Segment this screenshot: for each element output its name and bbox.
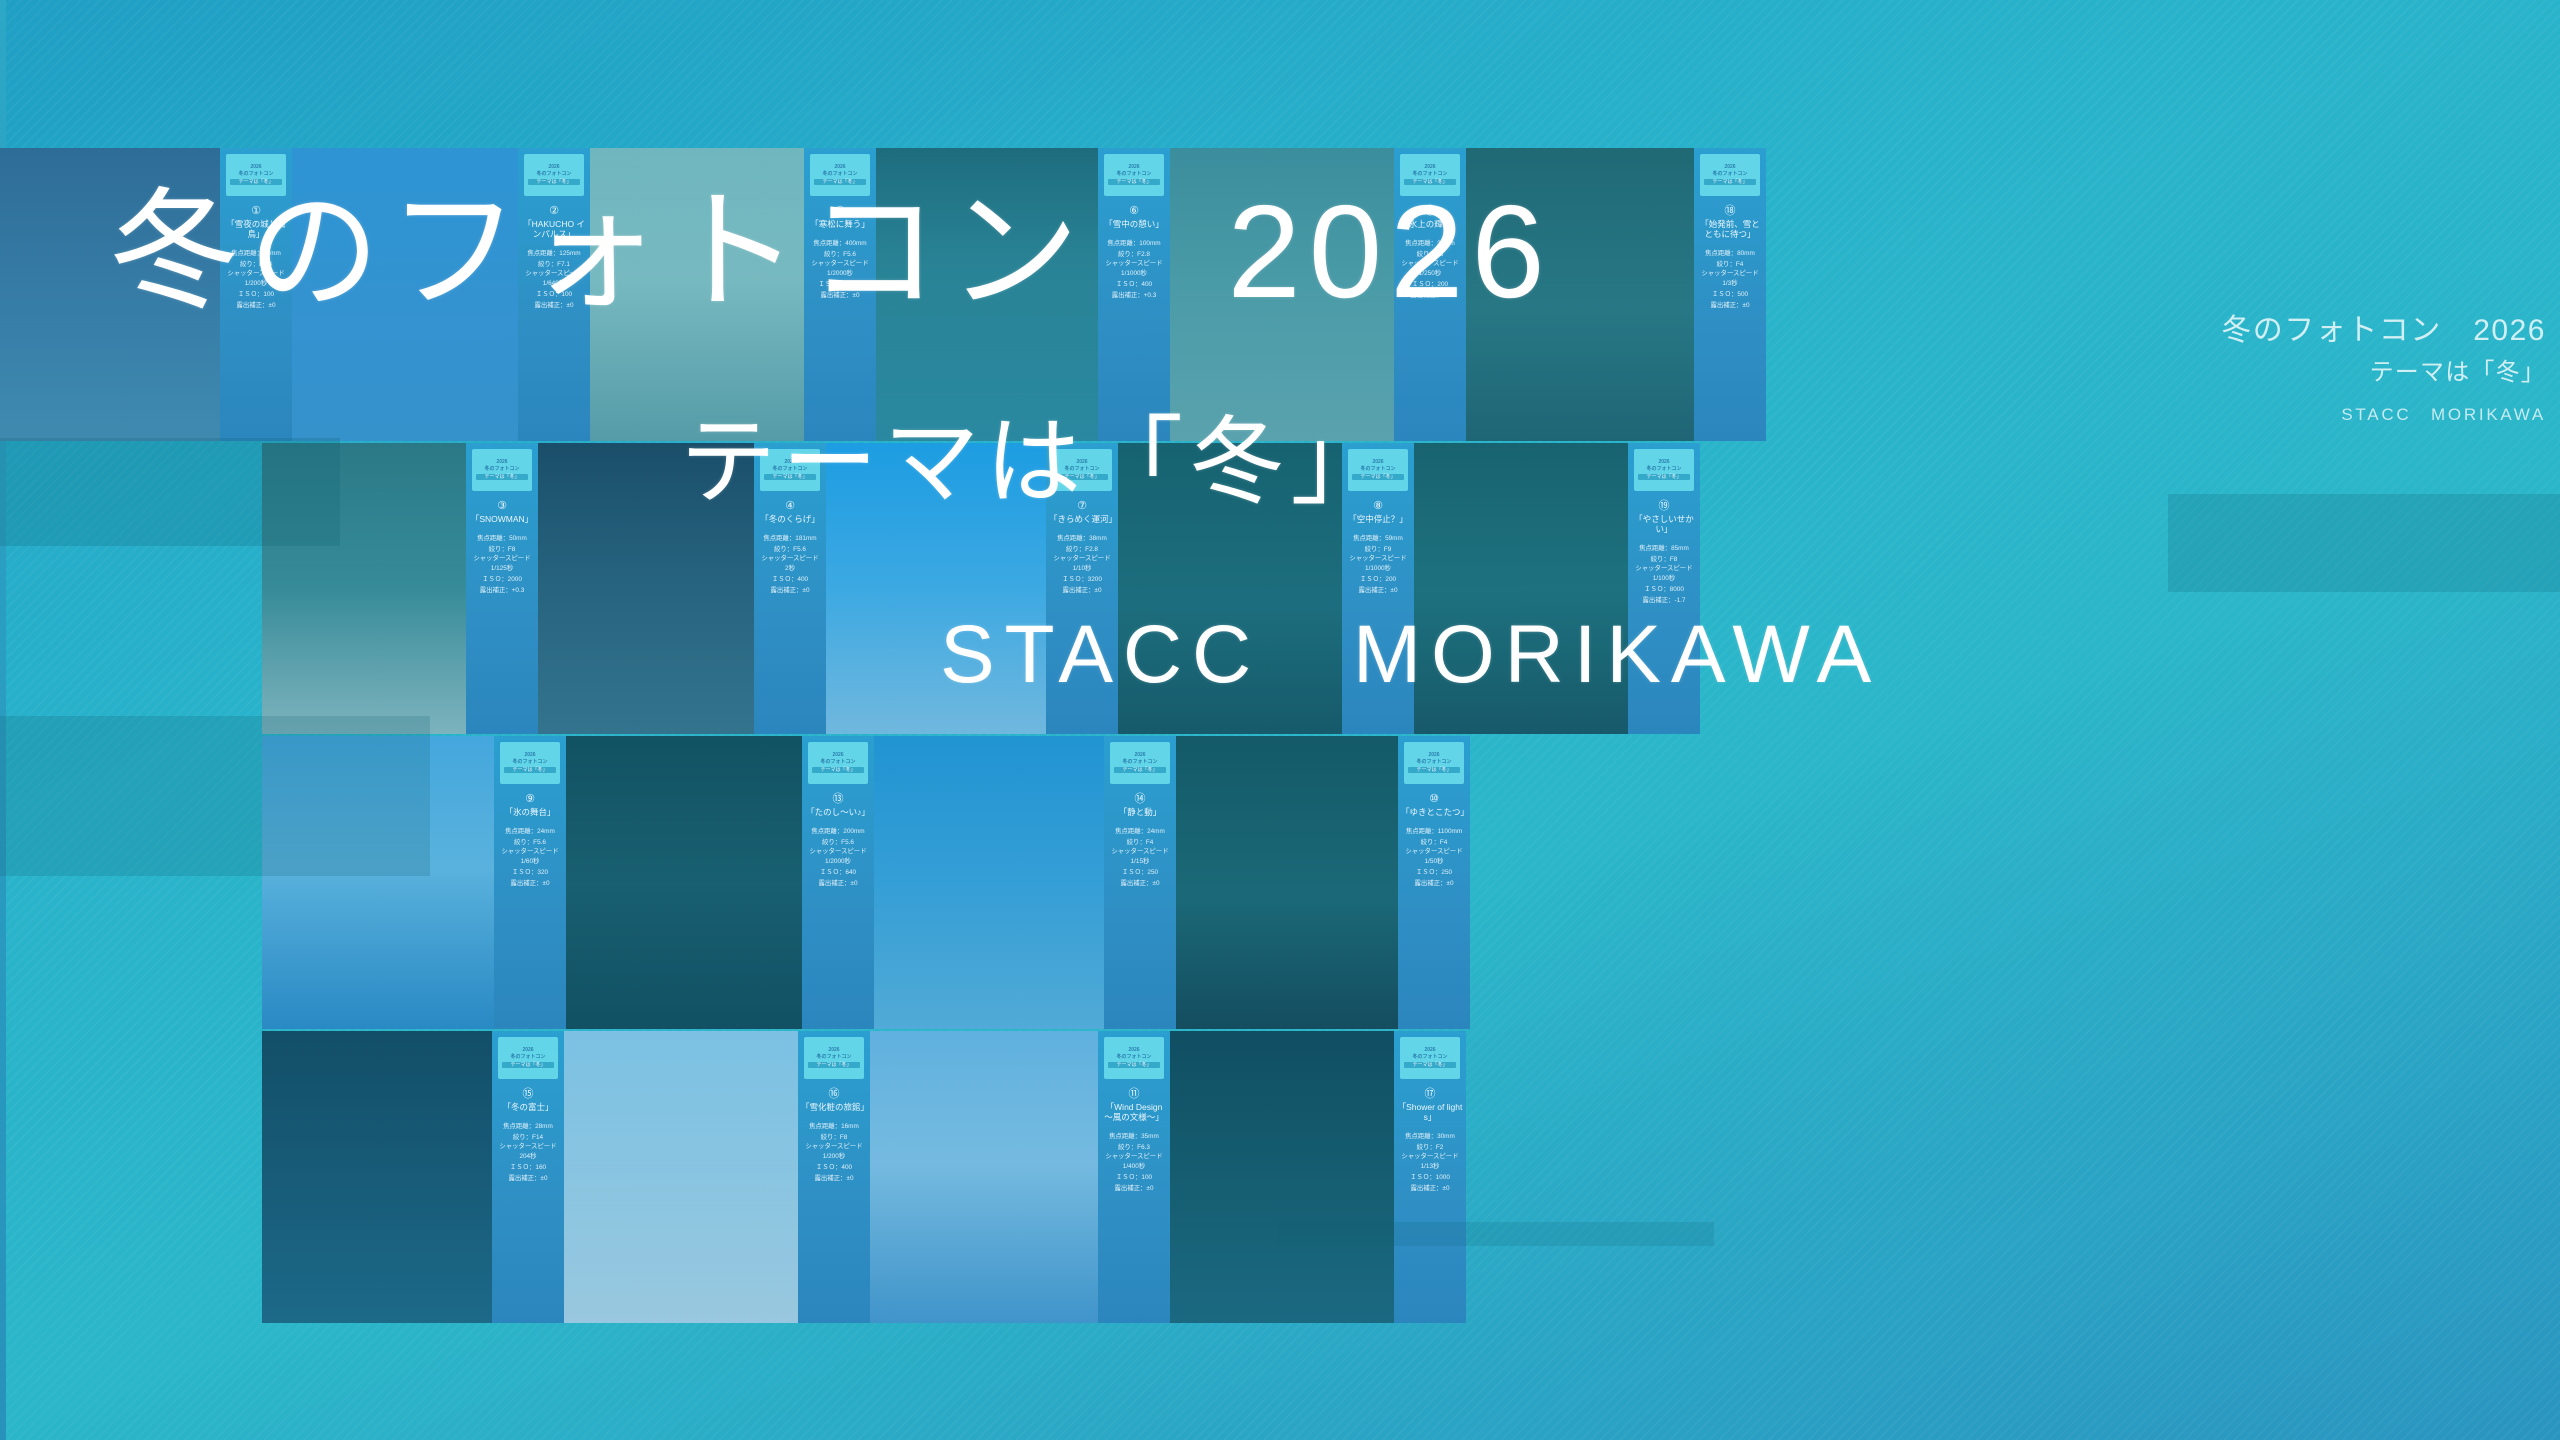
exif-focal: 焦点距離：35mm [1105, 1131, 1162, 1142]
photo-tile: 2026冬のフォトコンテーマは「冬」⑨「氷の舞台」焦点距離：24mm絞り：F5.… [262, 736, 566, 1029]
photo-caption-card: 2026冬のフォトコンテーマは「冬」⑭「静と動」焦点距離：24mm絞り：F4シャ… [1104, 736, 1176, 1029]
exif-exposure: 露出補正：±0 [811, 290, 868, 301]
entry-title: 「雪中の憩い」 [1103, 219, 1165, 229]
badge-theme: テーマは「冬」 [502, 1062, 554, 1068]
exif-shutter: シャッタースピード [1105, 260, 1162, 268]
exif-shutter-value: 1/13秒 [1401, 1161, 1458, 1172]
badge-event: 冬のフォトコン [1634, 467, 1694, 473]
contest-badge: 2026冬のフォトコンテーマは「冬」 [498, 1037, 558, 1079]
entry-number: ⑪ [1129, 1088, 1140, 1100]
badge-year: 2026 [1104, 165, 1164, 171]
exif-shutter: シャッタースピード [1401, 1153, 1458, 1161]
photo-caption-card: 2026冬のフォトコンテーマは「冬」⑥「雪中の憩い」焦点距離：100mm絞り：F… [1098, 148, 1170, 441]
exif-iso: ＩＳＯ：8000 [1635, 584, 1692, 595]
photo-caption-card: 2026冬のフォトコンテーマは「冬」②「HAKUCHO インパルス」焦点距離：1… [518, 148, 590, 441]
entry-exif: 焦点距離：200mm絞り：F5.6シャッタースピード1/2000秒ＩＳＯ：640… [809, 826, 866, 889]
exif-iso: ＩＳＯ：500 [1701, 289, 1758, 300]
mosaic-row-3: 2026冬のフォトコンテーマは「冬」⑨「氷の舞台」焦点距離：24mm絞り：F5.… [262, 736, 1470, 1029]
entry-exif: 焦点距離：28mm絞り：F14シャッタースピード204秒ＩＳＯ：160露出補正：… [499, 1121, 556, 1184]
badge-theme: テーマは「冬」 [814, 179, 866, 185]
contest-badge: 2026冬のフォトコンテーマは「冬」 [1104, 154, 1164, 196]
entry-title: 「Shower of lights」 [1396, 1102, 1464, 1122]
entry-exif: 焦点距離：16mm絞り：F8シャッタースピード1/200秒ＩＳＯ：400露出補正… [805, 1121, 862, 1184]
photo-tint [566, 736, 802, 1029]
mosaic-row-4: 2026冬のフォトコンテーマは「冬」⑮「冬の富士」焦点距離：28mm絞り：F14… [262, 1031, 1466, 1323]
badge-event: 冬のフォトコン [500, 760, 560, 766]
badge-year: 2026 [1634, 460, 1694, 466]
entry-title: 「氷上の輝き」 [1399, 219, 1461, 229]
entry-exif: 焦点距離：80mm絞り：F4シャッタースピード1/3秒ＩＳＯ：500露出補正：±… [1701, 248, 1758, 311]
exif-shutter: シャッタースピード [1111, 848, 1168, 856]
badge-year: 2026 [1052, 460, 1112, 466]
photo-caption-card: 2026冬のフォトコンテーマは「冬」③「SNOWMAN」焦点距離：50mm絞り：… [466, 443, 538, 734]
entry-number: ⑯ [829, 1088, 840, 1100]
contest-badge: 2026冬のフォトコンテーマは「冬」 [1634, 449, 1694, 491]
mosaic-row-2: 2026冬のフォトコンテーマは「冬」③「SNOWMAN」焦点距離：50mm絞り：… [262, 443, 1700, 734]
exif-exposure: 露出補正：±0 [1053, 585, 1110, 596]
entry-title: 「寒松に舞う」 [809, 219, 871, 229]
entry-title: 「雪化粧の旅館」 [800, 1102, 868, 1112]
badge-theme: テーマは「冬」 [528, 179, 580, 185]
exif-focal: 焦点距離：28mm [499, 1121, 556, 1132]
photo-tint [262, 443, 466, 734]
badge-year: 2026 [1400, 165, 1460, 171]
contest-badge: 2026冬のフォトコンテーマは「冬」 [804, 1037, 864, 1079]
photo-tile: 2026冬のフォトコンテーマは「冬」⑫「氷上の輝き」焦点距離：35mm絞り：F8… [1170, 148, 1466, 441]
entry-number: ⑭ [1135, 793, 1146, 805]
exif-aperture: 絞り：F4 [1111, 837, 1168, 848]
badge-year: 2026 [808, 753, 868, 759]
photo-fireworks-lake [262, 1031, 492, 1323]
exif-shutter-value: 1/1000秒 [1105, 268, 1162, 279]
badge-theme: テーマは「冬」 [764, 474, 816, 480]
entry-number: ⑥ [1129, 205, 1139, 217]
photo-tint [876, 148, 1098, 441]
entry-exif: 焦点距離：125mm絞り：F7.1シャッタースピード1/640秒ＩＳＯ：100露… [525, 248, 582, 311]
contest-badge: 2026冬のフォトコンテーマは「冬」 [1700, 154, 1760, 196]
entry-exif: 焦点距離：38mm絞り：F2.8シャッタースピード1/10秒ＩＳＯ：3200露出… [1053, 533, 1110, 596]
photo-caption-card: 2026冬のフォトコンテーマは「冬」⑪「Wind Design ～風の文様～」焦… [1098, 1031, 1170, 1323]
entry-number: ⑦ [1077, 500, 1087, 512]
photo-kamakura-couple [1414, 443, 1628, 734]
entry-exif: 焦点距離：400mm絞り：F5.6シャッタースピード1/2000秒ＩＳＯ：200… [811, 238, 868, 301]
exif-shutter: シャッタースピード [811, 260, 868, 268]
exif-iso: ＩＳＯ：200 [1401, 279, 1458, 290]
photo-canal-night-town [538, 443, 754, 734]
exif-exposure: 露出補正：±0 [1111, 878, 1168, 889]
badge-theme: テーマは「冬」 [812, 767, 864, 773]
exif-shutter: シャッタースピード [1053, 555, 1110, 563]
entry-number: ⑧ [1373, 500, 1383, 512]
exif-shutter-value: 1/200秒 [805, 1151, 862, 1162]
photo-tile: 2026冬のフォトコンテーマは「冬」⑭「静と動」焦点距離：24mm絞り：F4シャ… [874, 736, 1176, 1029]
photo-tint [538, 443, 754, 734]
photo-city-illumination [1170, 1031, 1394, 1323]
exif-exposure: 露出補正：±0 [499, 1173, 556, 1184]
photo-tint [292, 148, 518, 441]
contest-badge: 2026冬のフォトコンテーマは「冬」 [1348, 449, 1408, 491]
exif-shutter: シャッタースピード [227, 270, 284, 278]
exif-exposure: 露出補正：±0 [805, 1173, 862, 1184]
exif-focal: 焦点距離：24mm [1111, 826, 1168, 837]
photo-icicle-formation [262, 443, 466, 734]
photo-tile: 2026冬のフォトコンテーマは「冬」⑤「寒松に舞う」焦点距離：400mm絞り：F… [590, 148, 876, 441]
entry-title: 「始発前、雪とともに待つ」 [1696, 219, 1764, 239]
badge-year: 2026 [1700, 165, 1760, 171]
exif-aperture: 絞り：F4 [1405, 837, 1462, 848]
entry-title: 「きらめく運河」 [1048, 514, 1116, 524]
entry-title: 「空中停止？」 [1347, 514, 1409, 524]
exif-aperture: 絞り：F8 [805, 1132, 862, 1143]
entry-exif: 焦点距離：20mm絞り：F2.8シャッタースピード1/200秒ＩＳＯ：100露出… [227, 248, 284, 311]
exif-focal: 焦点距離：38mm [1053, 533, 1110, 544]
badge-theme: テーマは「冬」 [476, 474, 528, 480]
badge-event: 冬のフォトコン [1404, 760, 1464, 766]
exif-focal: 焦点距離：59mm [1349, 533, 1406, 544]
exif-iso: ＩＳＯ：200 [1349, 574, 1406, 585]
badge-theme: テーマは「冬」 [1352, 474, 1404, 480]
exif-iso: ＩＳＯ：250 [1111, 867, 1168, 878]
exif-aperture: 絞り：F5.6 [761, 544, 818, 555]
exif-shutter-value: 1/2000秒 [811, 268, 868, 279]
exif-exposure: 露出補正：±0 [1105, 1183, 1162, 1194]
photo-tint [1466, 148, 1694, 441]
exif-focal: 焦点距離：181mm [761, 533, 818, 544]
exif-shutter-value: 1/3秒 [1701, 278, 1758, 289]
contest-badge: 2026冬のフォトコンテーマは「冬」 [808, 742, 868, 784]
exif-aperture: 絞り：F5.6 [811, 249, 868, 260]
badge-theme: テーマは「冬」 [1114, 767, 1166, 773]
entry-number: ① [251, 205, 261, 217]
badge-year: 2026 [1104, 1048, 1164, 1054]
badge-theme: テーマは「冬」 [1404, 1062, 1456, 1068]
badge-theme: テーマは「冬」 [1108, 179, 1160, 185]
entry-number: ⑤ [835, 205, 845, 217]
badge-theme: テーマは「冬」 [1108, 1062, 1160, 1068]
entry-title: 「やさしいせかい」 [1630, 514, 1698, 534]
exif-exposure: 露出補正：±0 [501, 878, 558, 889]
entry-exif: 焦点距離：35mm絞り：F6.3シャッタースピード1/400秒ＩＳＯ：100露出… [1105, 1131, 1162, 1194]
exif-shutter-value: 1/2000秒 [809, 856, 866, 867]
photo-tile: 2026冬のフォトコンテーマは「冬」⑪「Wind Design ～風の文様～」焦… [870, 1031, 1170, 1323]
exif-exposure: 露出補正：±0 [1701, 300, 1758, 311]
exif-exposure: 露出補正：±0 [1349, 585, 1406, 596]
exif-shutter: シャッタースピード [805, 1143, 862, 1151]
photo-caption-card: 2026冬のフォトコンテーマは「冬」④「冬のくらげ」焦点距離：181mm絞り：F… [754, 443, 826, 734]
photo-snowy-ryokan [564, 1031, 798, 1323]
exif-shutter-value: 1/200秒 [227, 278, 284, 289]
contest-badge: 2026冬のフォトコンテーマは「冬」 [226, 154, 286, 196]
entry-exif: 焦点距離：100mm絞り：F2.8シャッタースピード1/1000秒ＩＳＯ：400… [1105, 238, 1162, 301]
photo-snow-castle [0, 148, 220, 441]
photo-tint [1176, 736, 1398, 1029]
exif-iso: ＩＳＯ：100 [525, 289, 582, 300]
exif-shutter-value: 1/10秒 [1053, 563, 1110, 574]
entry-exif: 焦点距離：85mm絞り：F8シャッタースピード1/100秒ＩＳＯ：8000露出補… [1635, 543, 1692, 606]
exif-shutter: シャッタースピード [1401, 260, 1458, 268]
photo-tile: 2026冬のフォトコンテーマは「冬」⑰「Shower of lights」焦点距… [1170, 1031, 1466, 1323]
photo-caption-card: 2026冬のフォトコンテーマは「冬」⑤「寒松に舞う」焦点距離：400mm絞り：F… [804, 148, 876, 441]
badge-event: 冬のフォトコン [1348, 467, 1408, 473]
exif-shutter-value: 1/100秒 [1635, 573, 1692, 584]
exif-shutter: シャッタースピード [1105, 1153, 1162, 1161]
exif-iso: ＩＳＯ：3200 [1053, 574, 1110, 585]
exif-focal: 焦点距離：16mm [805, 1121, 862, 1132]
badge-year: 2026 [760, 460, 820, 466]
exif-focal: 焦点距離：30mm [1401, 1131, 1458, 1142]
photo-illumination-tree [566, 736, 802, 1029]
exif-shutter: シャッタースピード [809, 848, 866, 856]
exif-exposure: 露出補正：±0 [1401, 290, 1458, 301]
exif-shutter: シャッタースピード [525, 270, 582, 278]
exif-focal: 焦点距離：80mm [1701, 248, 1758, 259]
entry-title: 「氷の舞台」 [503, 807, 556, 817]
photo-winter-lake-birds [876, 148, 1098, 441]
exif-shutter: シャッタースピード [1635, 565, 1692, 573]
contest-badge: 2026冬のフォトコンテーマは「冬」 [810, 154, 870, 196]
exif-shutter-value: 1/1000秒 [1349, 563, 1406, 574]
badge-event: 冬のフォトコン [498, 1055, 558, 1061]
exif-shutter: シャッタースピード [1701, 270, 1758, 278]
exif-shutter-value: 2秒 [761, 563, 818, 574]
exif-shutter-value: 204秒 [499, 1151, 556, 1162]
photo-tile: 2026冬のフォトコンテーマは「冬」①「雪夜の城と白鳥」焦点距離：20mm絞り：… [0, 148, 292, 441]
exif-iso: ＩＳＯ：2000 [473, 574, 530, 585]
contest-badge: 2026冬のフォトコンテーマは「冬」 [500, 742, 560, 784]
photo-caption-card: 2026冬のフォトコンテーマは「冬」⑰「Shower of lights」焦点距… [1394, 1031, 1466, 1323]
badge-year: 2026 [524, 165, 584, 171]
exif-aperture: 絞り：F2.8 [227, 259, 284, 270]
badge-year: 2026 [500, 753, 560, 759]
badge-event: 冬のフォトコン [810, 172, 870, 178]
photo-tile: 2026冬のフォトコンテーマは「冬」⑱「始発前、雪とともに待つ」焦点距離：80m… [1466, 148, 1766, 441]
exif-aperture: 絞り：F8 [1635, 554, 1692, 565]
badge-event: 冬のフォトコン [1104, 1055, 1164, 1061]
exif-focal: 焦点距離：400mm [811, 238, 868, 249]
photo-caption-card: 2026冬のフォトコンテーマは「冬」⑬「たのし～い♪」焦点距離：200mm絞り：… [802, 736, 874, 1029]
photo-pine-branch [590, 148, 804, 441]
entry-title: 「HAKUCHO インパルス」 [520, 219, 588, 239]
entry-exif: 焦点距離：59mm絞り：F9シャッタースピード1/1000秒ＩＳＯ：200露出補… [1349, 533, 1406, 596]
entry-title: 「ゆきとこたつ」 [1400, 807, 1468, 817]
exif-iso: ＩＳＯ：100 [227, 289, 284, 300]
photo-night-railyard [1466, 148, 1694, 441]
exif-iso: ＩＳＯ：640 [809, 867, 866, 878]
photo-tile: 2026冬のフォトコンテーマは「冬」⑧「空中停止？」焦点距離：59mm絞り：F9… [1118, 443, 1414, 734]
badge-theme: テーマは「冬」 [1704, 179, 1756, 185]
exif-iso: ＩＳＯ：20000 [811, 279, 868, 290]
exif-aperture: 絞り：F4 [1701, 259, 1758, 270]
badge-event: 冬のフォトコン [524, 172, 584, 178]
badge-event: 冬のフォトコン [1400, 1055, 1460, 1061]
badge-event: 冬のフォトコン [804, 1055, 864, 1061]
badge-year: 2026 [498, 1048, 558, 1054]
entry-number: ⑰ [1425, 1088, 1436, 1100]
contest-badge: 2026冬のフォトコンテーマは「冬」 [472, 449, 532, 491]
entry-exif: 焦点距離：1100mm絞り：F4シャッタースピード1/50秒ＩＳＯ：250露出補… [1405, 826, 1462, 889]
entry-number: ⑫ [1425, 205, 1436, 217]
exif-aperture: 絞り：F2.8 [1105, 249, 1162, 260]
entry-exif: 焦点距離：50mm絞り：F8シャッタースピード1/125秒ＩＳＯ：2000露出補… [473, 533, 530, 596]
exif-focal: 焦点距離：100mm [1105, 238, 1162, 249]
exif-iso: ＩＳＯ：400 [1105, 279, 1162, 290]
entry-title: 「たのし～い♪」 [805, 807, 871, 817]
exif-shutter-value: 1/400秒 [1105, 1161, 1162, 1172]
photo-tint [870, 1031, 1098, 1323]
exif-exposure: 露出補正：±0 [525, 300, 582, 311]
badge-year: 2026 [804, 1048, 864, 1054]
exif-aperture: 絞り：F8 [1401, 249, 1458, 260]
exif-focal: 焦点距離：20mm [227, 248, 284, 259]
photo-tint [1414, 443, 1628, 734]
photo-caption-card: 2026冬のフォトコンテーマは「冬」⑱「始発前、雪とともに待つ」焦点距離：80m… [1694, 148, 1766, 441]
exif-aperture: 絞り：F9 [1349, 544, 1406, 555]
badge-theme: テーマは「冬」 [1408, 767, 1460, 773]
photo-mosaic: 2026冬のフォトコンテーマは「冬」①「雪夜の城と白鳥」焦点距離：20mm絞り：… [0, 148, 2560, 1238]
photo-tile: 2026冬のフォトコンテーマは「冬」③「SNOWMAN」焦点距離：50mm絞り：… [262, 443, 538, 734]
exif-aperture: 絞り：F5.6 [501, 837, 558, 848]
badge-year: 2026 [1400, 1048, 1460, 1054]
mosaic-row-1: 2026冬のフォトコンテーマは「冬」①「雪夜の城と白鳥」焦点距離：20mm絞り：… [0, 148, 1766, 441]
exif-shutter-value: 1/60秒 [501, 856, 558, 867]
photo-caption-card: 2026冬のフォトコンテーマは「冬」⑨「氷の舞台」焦点距離：24mm絞り：F5.… [494, 736, 566, 1029]
exif-focal: 焦点距離：24mm [501, 826, 558, 837]
exif-focal: 焦点距離：85mm [1635, 543, 1692, 554]
photo-snow-dunes [870, 1031, 1098, 1323]
photo-tint [874, 736, 1104, 1029]
entry-exif: 焦点距離：181mm絞り：F5.6シャッタースピード2秒ＩＳＯ：400露出補正：… [761, 533, 818, 596]
photo-tint [1118, 443, 1342, 734]
contest-badge: 2026冬のフォトコンテーマは「冬」 [1052, 449, 1112, 491]
badge-theme: テーマは「冬」 [1056, 474, 1108, 480]
exif-focal: 焦点距離：200mm [809, 826, 866, 837]
exif-shutter-value: 1/50秒 [1405, 856, 1462, 867]
photo-tile: 2026冬のフォトコンテーマは「冬」⑬「たのし～い♪」焦点距離：200mm絞り：… [566, 736, 874, 1029]
exif-focal: 焦点距離：125mm [525, 248, 582, 259]
photo-tile: 2026冬のフォトコンテーマは「冬」④「冬のくらげ」焦点距離：181mm絞り：F… [538, 443, 826, 734]
exif-shutter: シャッタースピード [1405, 848, 1462, 856]
badge-event: 冬のフォトコン [226, 172, 286, 178]
badge-theme: テーマは「冬」 [808, 1062, 860, 1068]
entry-exif: 焦点距離：30mm絞り：F2シャッタースピード1/13秒ＩＳＯ：1000露出補正… [1401, 1131, 1458, 1194]
exif-exposure: 露出補正：+0.3 [473, 585, 530, 596]
photo-tile: 2026冬のフォトコンテーマは「冬」⑲「やさしいせかい」焦点距離：85mm絞り：… [1414, 443, 1700, 734]
photo-caption-card: 2026冬のフォトコンテーマは「冬」⑯「雪化粧の旅館」焦点距離：16mm絞り：F… [798, 1031, 870, 1323]
exif-iso: ＩＳＯ：320 [501, 867, 558, 878]
entry-title: 「SNOWMAN」 [470, 514, 534, 524]
exif-iso: ＩＳＯ：400 [805, 1162, 862, 1173]
photo-tile: 2026冬のフォトコンテーマは「冬」⑯「雪化粧の旅館」焦点距離：16mm絞り：F… [564, 1031, 870, 1323]
contest-badge: 2026冬のフォトコンテーマは「冬」 [1400, 154, 1460, 196]
photo-tile: 2026冬のフォトコンテーマは「冬」⑩「ゆきとこたつ」焦点距離：1100mm絞り… [1176, 736, 1470, 1029]
badge-theme: テーマは「冬」 [1638, 474, 1690, 480]
entry-exif: 焦点距離：24mm絞り：F5.6シャッタースピード1/60秒ＩＳＯ：320露出補… [501, 826, 558, 889]
photo-snow-airport [826, 443, 1046, 734]
entry-number: ④ [785, 500, 795, 512]
badge-event: 冬のフォトコン [472, 467, 532, 473]
exif-shutter-value: 1/125秒 [473, 563, 530, 574]
contest-badge: 2026冬のフォトコンテーマは「冬」 [1104, 1037, 1164, 1079]
photo-tint [826, 443, 1046, 734]
entry-number: ⑮ [523, 1088, 534, 1100]
badge-event: 冬のフォトコン [808, 760, 868, 766]
badge-event: 冬のフォトコン [1400, 172, 1460, 178]
exif-iso: ＩＳＯ：250 [1405, 867, 1462, 878]
photo-caption-card: 2026冬のフォトコンテーマは「冬」⑮「冬の富士」焦点距離：28mm絞り：F14… [492, 1031, 564, 1323]
photo-swans-in-flight [292, 148, 518, 441]
entry-number: ⑩ [1429, 793, 1439, 805]
exif-iso: ＩＳＯ：1000 [1401, 1172, 1458, 1183]
photo-caption-card: 2026冬のフォトコンテーマは「冬」⑦「きらめく運河」焦点距離：38mm絞り：F… [1046, 443, 1118, 734]
photo-caption-card: 2026冬のフォトコンテーマは「冬」⑫「氷上の輝き」焦点距離：35mm絞り：F8… [1394, 148, 1466, 441]
photo-caption-card: 2026冬のフォトコンテーマは「冬」⑲「やさしいせかい」焦点距離：85mm絞り：… [1628, 443, 1700, 734]
photo-tint [262, 1031, 492, 1323]
entry-title: 「静と動」 [1118, 807, 1163, 817]
exif-focal: 焦点距離：50mm [473, 533, 530, 544]
exif-exposure: 露出補正：±0 [227, 300, 284, 311]
exif-aperture: 絞り：F7.1 [525, 259, 582, 270]
exif-shutter: シャッタースピード [761, 555, 818, 563]
exif-aperture: 絞り：F2.8 [1053, 544, 1110, 555]
photo-tint [1170, 148, 1394, 441]
badge-theme: テーマは「冬」 [504, 767, 556, 773]
exif-exposure: 露出補正：±0 [809, 878, 866, 889]
exif-aperture: 絞り：F6.3 [1105, 1142, 1162, 1153]
photo-caption-card: 2026冬のフォトコンテーマは「冬」⑩「ゆきとこたつ」焦点距離：1100mm絞り… [1398, 736, 1470, 1029]
photo-frozen-waterfall [874, 736, 1104, 1029]
badge-event: 冬のフォトコン [1104, 172, 1164, 178]
badge-theme: テーマは「冬」 [1404, 179, 1456, 185]
exif-aperture: 絞り：F5.6 [809, 837, 866, 848]
exif-iso: ＩＳＯ：400 [761, 574, 818, 585]
entry-number: ② [549, 205, 559, 217]
exif-exposure: 露出補正：-1.7 [1635, 595, 1692, 606]
contest-badge: 2026冬のフォトコンテーマは「冬」 [1404, 742, 1464, 784]
contest-badge: 2026冬のフォトコンテーマは「冬」 [760, 449, 820, 491]
badge-year: 2026 [810, 165, 870, 171]
exif-shutter: シャッタースピード [473, 555, 530, 563]
photo-tint [564, 1031, 798, 1323]
entry-number: ③ [497, 500, 507, 512]
photo-caption-card: 2026冬のフォトコンテーマは「冬」①「雪夜の城と白鳥」焦点距離：20mm絞り：… [220, 148, 292, 441]
entry-number: ⑬ [833, 793, 844, 805]
exif-iso: ＩＳＯ：100 [1105, 1172, 1162, 1183]
photo-reed-riverbank [1170, 148, 1394, 441]
exif-shutter: シャッタースピード [501, 848, 558, 856]
contest-badge: 2026冬のフォトコンテーマは「冬」 [524, 154, 584, 196]
exif-shutter: シャッタースピード [499, 1143, 556, 1151]
photo-candle-igloo [1118, 443, 1342, 734]
badge-year: 2026 [1404, 753, 1464, 759]
entry-number: ⑱ [1725, 205, 1736, 217]
exif-aperture: 絞り：F14 [499, 1132, 556, 1143]
contest-badge: 2026冬のフォトコンテーマは「冬」 [1400, 1037, 1460, 1079]
badge-event: 冬のフォトコン [1052, 467, 1112, 473]
badge-year: 2026 [1348, 460, 1408, 466]
entry-exif: 焦点距離：24mm絞り：F4シャッタースピード1/15秒ＩＳＯ：250露出補正：… [1111, 826, 1168, 889]
exif-exposure: 露出補正：±0 [761, 585, 818, 596]
photo-tint [1170, 1031, 1394, 1323]
photo-campfire-people [1176, 736, 1398, 1029]
exif-shutter: シャッタースピード [1349, 555, 1406, 563]
photo-tint [590, 148, 804, 441]
entry-number: ⑨ [525, 793, 535, 805]
badge-event: 冬のフォトコン [760, 467, 820, 473]
exif-focal: 焦点距離：1100mm [1405, 826, 1462, 837]
exif-iso: ＩＳＯ：160 [499, 1162, 556, 1173]
badge-theme: テーマは「冬」 [230, 179, 282, 185]
exif-focal: 焦点距離：35mm [1401, 238, 1458, 249]
